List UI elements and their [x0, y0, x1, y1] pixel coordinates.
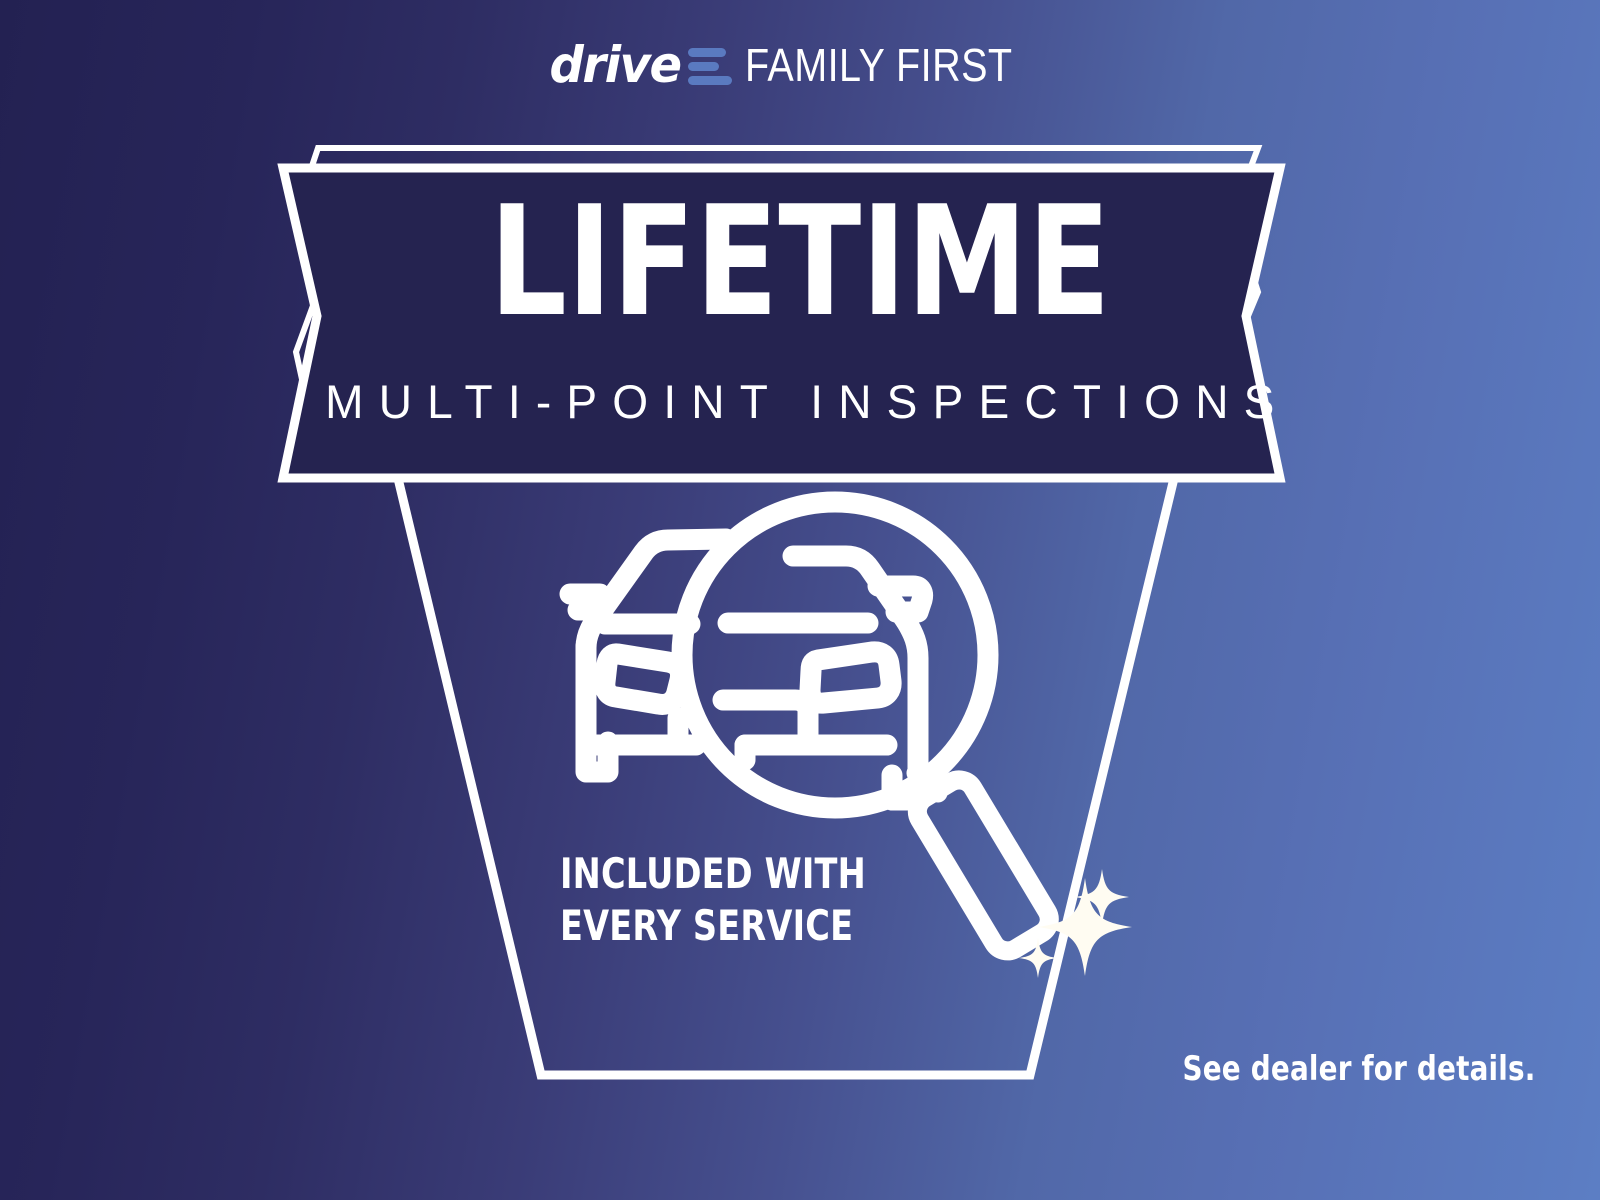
offer-tagline: INCLUDED WITH EVERY SERVICE: [560, 848, 866, 952]
three-stacked-bars-icon: [688, 48, 732, 85]
promo-poster: drive FAMILY FIRST LIFETIME MULTI-POINT …: [0, 0, 1600, 1200]
brand-tagline: FAMILY FIRST: [745, 42, 1012, 88]
offer-tagline-line2: EVERY SERVICE: [560, 900, 866, 952]
car-headlight-right: [810, 652, 891, 703]
brand-wordmark: drive: [549, 40, 680, 90]
bar-bottom: [688, 76, 732, 85]
disclaimer-text: See dealer for details.: [1183, 1052, 1536, 1086]
car-mirror-left: [570, 594, 600, 610]
banner-subtitle: MULTI-POINT INSPECTIONS: [16, 378, 1584, 425]
banner-title: LIFETIME: [160, 186, 1440, 338]
bar-middle: [688, 62, 719, 71]
bar-top: [688, 48, 726, 57]
sparkle-large: [1038, 878, 1132, 976]
offer-tagline-line1: INCLUDED WITH: [560, 849, 866, 898]
magnifier-handle: [911, 774, 1055, 957]
brand-logo: drive FAMILY FIRST: [0, 34, 1600, 96]
car-headlight-left: [605, 654, 681, 705]
